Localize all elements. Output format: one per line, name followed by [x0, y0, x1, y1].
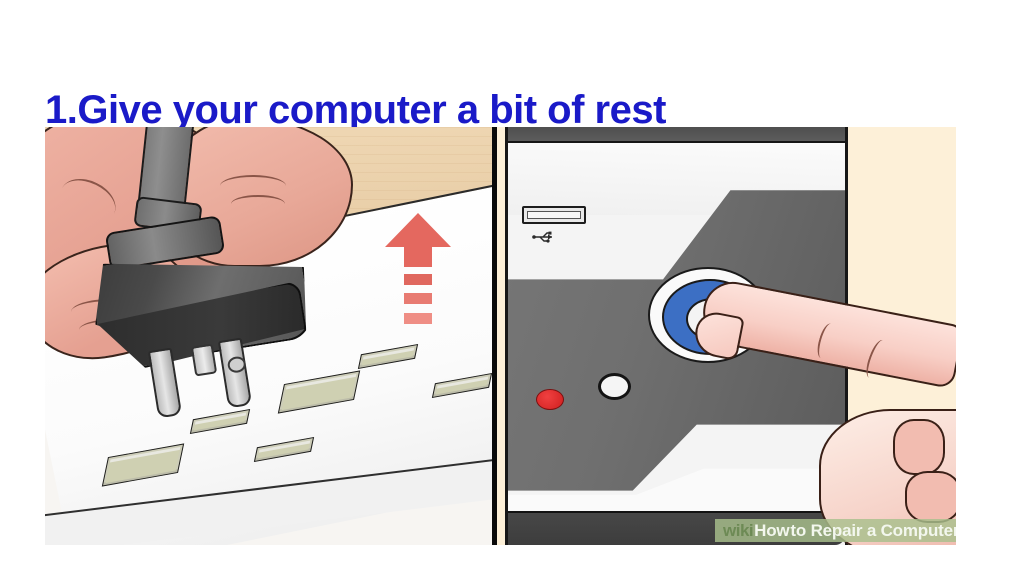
power-led-indicator: [536, 389, 564, 410]
pull-up-arrow-stem: [404, 245, 432, 267]
hand-crease: [231, 195, 285, 213]
reset-button[interactable]: [598, 373, 631, 400]
watermark-brand-prefix: wiki: [723, 521, 753, 541]
watermark-caption: to Repair a Computer: [790, 521, 956, 541]
watermark-brand-suffix: How: [754, 521, 789, 541]
slide-canvas: 1.Give your computer a bit of rest: [0, 0, 1024, 576]
arrow-motion-dash-1: [404, 274, 432, 285]
arrow-motion-dash-3: [404, 313, 432, 324]
left-illustration-panel: [45, 127, 494, 545]
tower-top-band: [508, 127, 845, 143]
usb-port[interactable]: [522, 206, 586, 224]
folded-finger: [893, 419, 945, 475]
wikihow-watermark: wiki How to Repair a Computer: [715, 519, 956, 542]
usb-icon: [532, 230, 558, 243]
hand-crease: [220, 175, 286, 197]
panel-divider: [492, 127, 497, 545]
folded-finger: [905, 471, 956, 523]
right-illustration-panel: wiki How to Repair a Computer: [497, 127, 956, 545]
arrow-motion-dash-2: [404, 293, 432, 304]
plug-ground-pin: [191, 343, 217, 376]
pull-up-arrow-icon: [385, 213, 451, 247]
usb-trident-glyph: [532, 230, 558, 243]
illustration-figure: wiki How to Repair a Computer: [45, 127, 956, 545]
